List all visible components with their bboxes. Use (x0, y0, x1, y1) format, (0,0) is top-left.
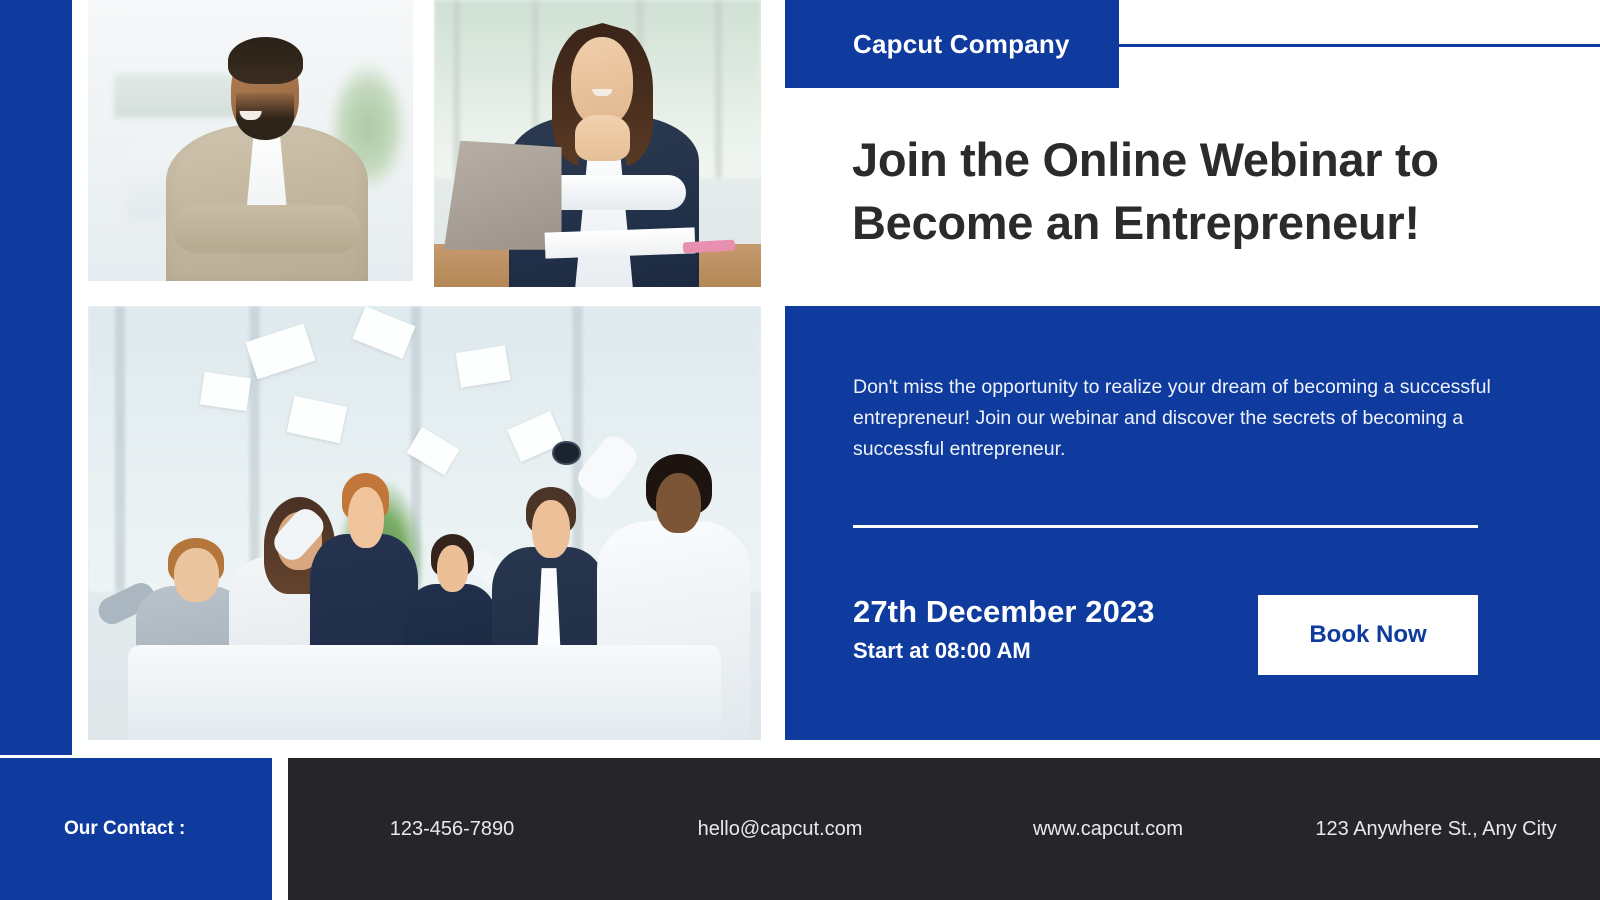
webinar-description: Don't miss the opportunity to realize yo… (853, 372, 1493, 464)
contact-label: Our Contact : (0, 818, 185, 840)
team-celebration-image (88, 306, 761, 740)
contact-label-block: Our Contact : (0, 758, 272, 900)
webinar-details-panel: Don't miss the opportunity to realize yo… (785, 306, 1600, 740)
contact-website[interactable]: www.capcut.com (944, 818, 1272, 841)
contact-phone[interactable]: 123-456-7890 (288, 818, 616, 841)
panel-divider-line (853, 525, 1478, 528)
event-start-time: Start at 08:00 AM (853, 638, 1155, 664)
businesswoman-portrait-image (434, 0, 761, 287)
webinar-flyer: Capcut Company Join the Online Webinar t… (0, 0, 1600, 900)
contact-address[interactable]: 123 Anywhere St., Any City (1272, 818, 1600, 841)
header-divider-line (1119, 44, 1600, 47)
book-now-button[interactable]: Book Now (1258, 595, 1478, 675)
contact-details-bar: 123-456-7890 hello@capcut.com www.capcut… (288, 758, 1600, 900)
event-datetime-block: 27th December 2023 Start at 08:00 AM (853, 594, 1155, 664)
page-title: Join the Online Webinar to Become an Ent… (852, 129, 1552, 255)
company-name-badge: Capcut Company (785, 0, 1119, 88)
left-accent-bar (0, 0, 72, 755)
company-name-label: Capcut Company (785, 29, 1070, 60)
contact-email[interactable]: hello@capcut.com (616, 818, 944, 841)
businessman-portrait-image (88, 0, 413, 281)
event-date: 27th December 2023 (853, 594, 1155, 630)
